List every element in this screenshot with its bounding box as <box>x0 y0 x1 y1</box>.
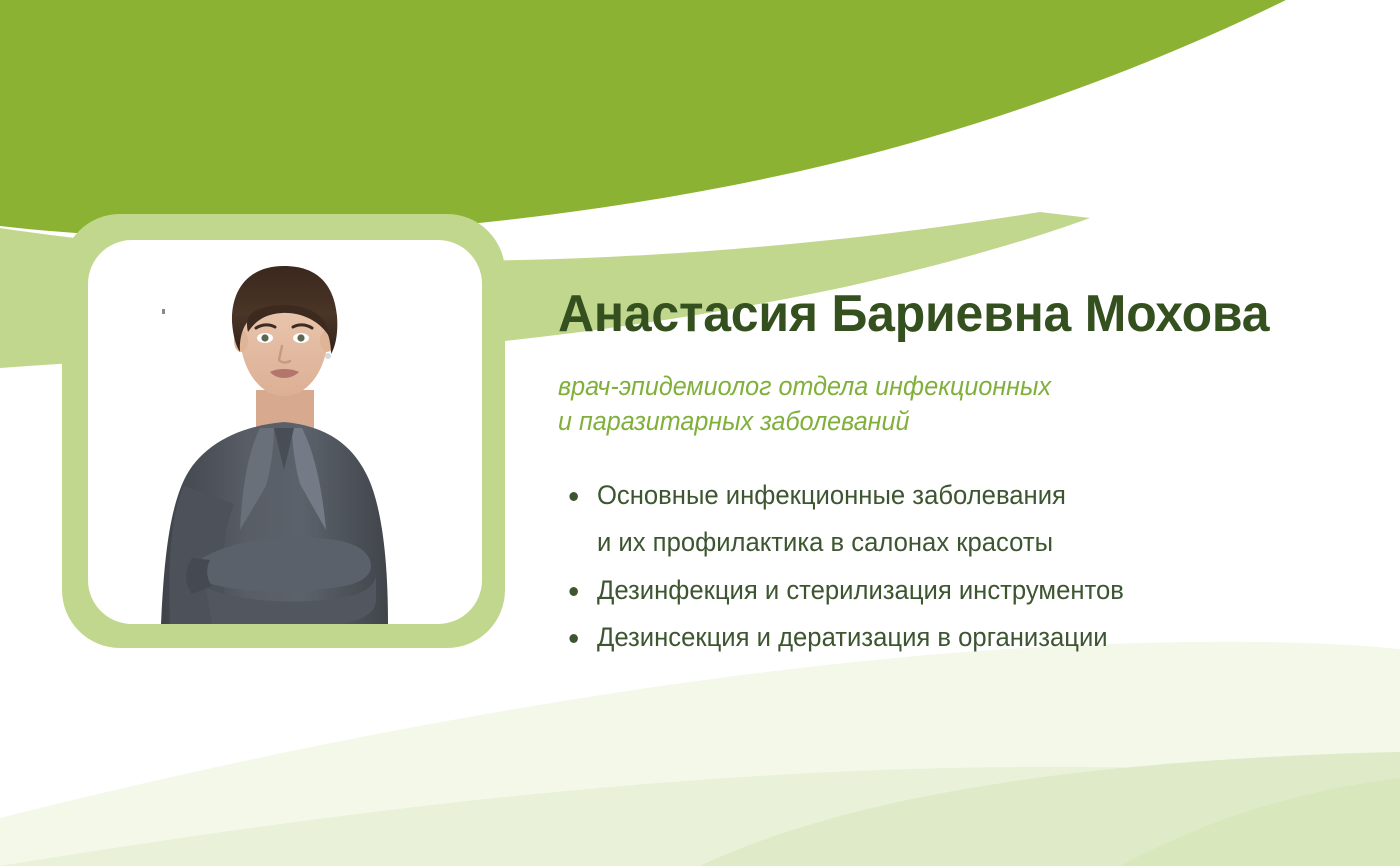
topics-list: Основные инфекционные заболевания и их п… <box>558 438 1348 661</box>
photo-speck-artifact <box>162 309 165 314</box>
wave-lightest <box>0 642 1400 866</box>
slide-canvas: Анастасия Бариевна Мохова врач-эпидемиол… <box>0 0 1400 866</box>
page-title: Анастасия Бариевна Мохова <box>558 288 1316 341</box>
list-item: Дезинфекция и стерилизация инструментов <box>558 567 1309 614</box>
portrait-photo <box>88 240 482 624</box>
speaker-info-block: Анастасия Бариевна Мохова врач-эпидемиол… <box>558 288 1348 661</box>
portrait-iris-left <box>261 334 268 341</box>
top-green-shape <box>0 0 1286 238</box>
portrait-earring <box>325 353 331 359</box>
speaker-role: врач-эпидемиолог отдела инфекционных и п… <box>558 341 1293 438</box>
portrait-illustration <box>88 240 482 624</box>
list-item: Основные инфекционные заболевания и их п… <box>558 472 1309 567</box>
list-item: Дезинсекция и дератизация в организации <box>558 614 1309 661</box>
wave-accent <box>1120 778 1400 866</box>
wave-light <box>0 767 1400 866</box>
wave-mid <box>700 752 1400 866</box>
portrait-iris-right <box>297 334 304 341</box>
